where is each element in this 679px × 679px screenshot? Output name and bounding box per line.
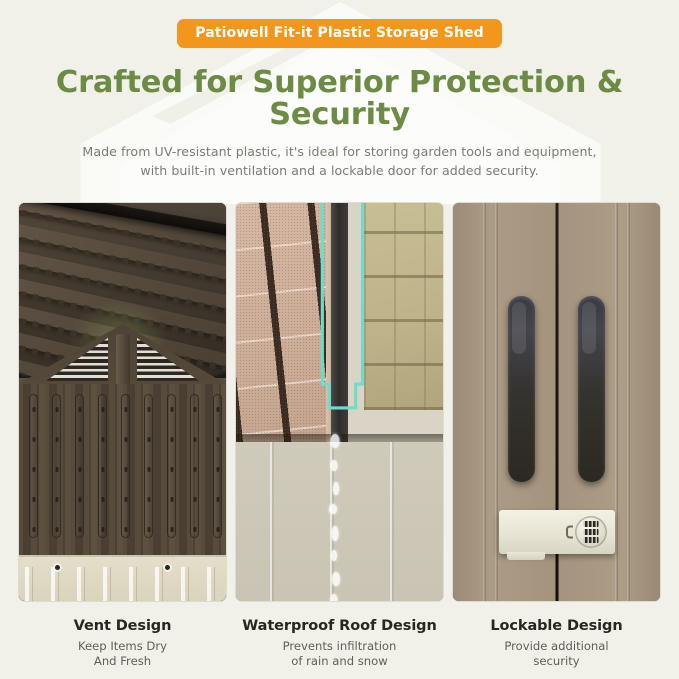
wall-rib xyxy=(144,394,153,538)
caption-subtext: Prevents infiltration of rain and snow xyxy=(235,639,444,670)
caption-title: Lockable Design xyxy=(452,618,661,634)
water-droplet xyxy=(331,550,337,561)
feature-card-vent-design: Vent Design Keep Items Dry And Fresh xyxy=(18,202,227,670)
seam-highlight-outline xyxy=(236,203,443,450)
caption-lockable-design: Lockable Design Provide additional secur… xyxy=(452,602,661,670)
subtitle-line-1: Made from UV-resistant plastic, it's ide… xyxy=(0,143,679,162)
page-title: Crafted for Superior Protection & Securi… xyxy=(0,67,679,131)
lock-hasp-plate[interactable] xyxy=(499,510,615,554)
page-subtitle: Made from UV-resistant plastic, it's ide… xyxy=(0,143,679,181)
water-droplet xyxy=(332,572,340,586)
feature-card-lockable-design: Lockable Design Provide additional secur… xyxy=(452,202,661,670)
wall-rib xyxy=(190,394,199,538)
caption-title: Vent Design xyxy=(18,618,227,634)
caption-sub-line-1: Provide additional xyxy=(452,639,661,654)
caption-vent-design: Vent Design Keep Items Dry And Fresh xyxy=(18,602,227,670)
wall-rib xyxy=(29,394,38,538)
gable-wall xyxy=(19,378,226,601)
caption-sub-line-2: And Fresh xyxy=(18,654,227,669)
feature-image-lockable-design xyxy=(452,202,661,602)
wall-rib xyxy=(52,394,61,538)
caption-waterproof-roof-design: Waterproof Roof Design Prevents infiltra… xyxy=(235,602,444,670)
wall-rib xyxy=(121,394,130,538)
water-droplet xyxy=(331,460,338,471)
caption-subtext: Provide additional security xyxy=(452,639,661,670)
wall-rib xyxy=(167,394,176,538)
water-droplet xyxy=(333,482,339,495)
floor-trim xyxy=(19,555,226,601)
wall-rib xyxy=(213,394,222,538)
feature-image-waterproof-roof-design xyxy=(235,202,444,602)
door-handle-right[interactable] xyxy=(578,296,605,482)
caption-sub-line-2: of rain and snow xyxy=(235,654,444,669)
water-droplet xyxy=(332,526,339,541)
feature-panel-row: Vent Design Keep Items Dry And Fresh xyxy=(0,202,679,670)
combination-lock-icon[interactable] xyxy=(575,516,607,548)
feature-image-vent-design xyxy=(18,202,227,602)
subtitle-line-2: with built-in ventilation and a lockable… xyxy=(0,162,679,181)
product-badge: Patiowell Fit-it Plastic Storage Shed xyxy=(177,19,501,48)
page-header: Patiowell Fit-it Plastic Storage Shed Cr… xyxy=(0,0,679,181)
water-droplet xyxy=(331,434,340,448)
caption-subtext: Keep Items Dry And Fresh xyxy=(18,639,227,670)
water-stream xyxy=(325,434,343,601)
lockable-design-photo xyxy=(453,203,660,601)
feature-card-waterproof-roof-design: Waterproof Roof Design Prevents infiltra… xyxy=(235,202,444,670)
caption-sub-line-2: security xyxy=(452,654,661,669)
caption-title: Waterproof Roof Design xyxy=(235,618,444,634)
caption-sub-line-1: Prevents infiltration xyxy=(235,639,444,654)
wall-rib xyxy=(75,394,84,538)
water-droplet xyxy=(329,504,337,514)
waterproof-roof-photo xyxy=(236,203,443,601)
water-droplet xyxy=(331,594,338,602)
wall-rib xyxy=(98,394,107,538)
vent-design-photo xyxy=(19,203,226,601)
door-handle-left[interactable] xyxy=(508,296,535,482)
lock-shackle-icon xyxy=(566,525,573,538)
interior-wall-panels xyxy=(19,384,226,555)
caption-sub-line-1: Keep Items Dry xyxy=(18,639,227,654)
